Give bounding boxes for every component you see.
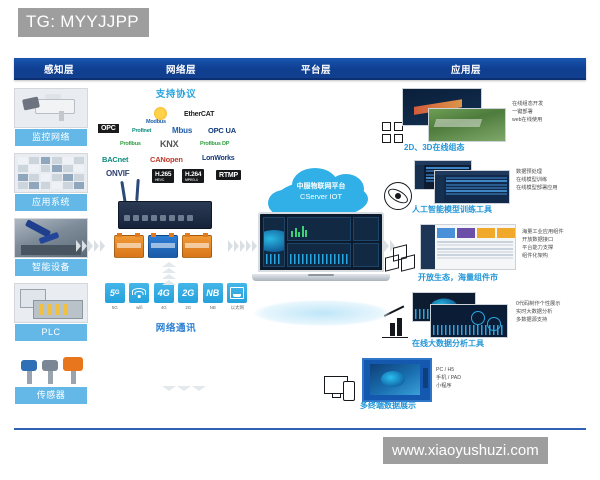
protocol-logo-profinet: Profinet xyxy=(132,128,151,134)
dash-panel-left-bottom xyxy=(287,243,351,267)
app-caption: 开放生态，海量组件市 xyxy=(418,272,498,283)
app-caption: 多终端数据展示 xyxy=(360,400,416,411)
layer-label-platform: 平台层 xyxy=(301,62,331,76)
antenna-icon xyxy=(135,179,140,201)
layer-label-perception: 感知层 xyxy=(44,62,74,76)
signal-4g-icon: 4G xyxy=(154,283,174,303)
app-screenshot-components xyxy=(420,224,516,270)
control-panel-icon xyxy=(14,153,88,193)
app-screenshot-ai-b xyxy=(434,170,510,204)
app-block-ecosystem: 海量工业应用组件 开放数据接口 平台能力支撑 组件化架构 开放生态，海量组件市 xyxy=(382,222,600,288)
device-application-system: 应用系统 xyxy=(8,153,94,211)
dash-panel-right-bottom xyxy=(353,243,379,267)
bar-chart-icon xyxy=(382,314,410,338)
diagram-canvas: TG: MYYJJPP 感知层 网络层 平台层 应用层 监控网络 xyxy=(0,0,600,480)
device-camera: 监控网络 xyxy=(8,88,94,146)
app-caption: 在线大数据分析工具 xyxy=(412,338,484,349)
comm-technology-row: 5G 5G wifi 4G 4G 2G 2G NB NB xyxy=(96,283,256,311)
device-label: 智能设备 xyxy=(15,259,87,276)
signal-nb-icon: NB xyxy=(203,283,223,303)
comm-nb: NB NB xyxy=(203,283,223,311)
protocol-logo-h264: H.264MPEG-4 xyxy=(182,169,204,183)
protocol-logo-lonworks: LonWorks xyxy=(202,155,235,162)
app-caption: 人工智能模型训练工具 xyxy=(412,204,492,215)
protocol-logo-canopen: CANopen xyxy=(150,155,183,164)
app-feature-list: 数据预处理 在线模型训练 在线模型部署应用 xyxy=(516,168,558,192)
layer-label-network: 网络层 xyxy=(166,62,196,76)
comm-4g: 4G 4G xyxy=(154,283,174,311)
dtu-module xyxy=(182,235,212,258)
platform-column: 中服物联网平台 CServer IOT xyxy=(246,168,396,281)
protocol-logo-knx: KNX xyxy=(160,139,178,149)
ethernet-icon xyxy=(227,283,247,303)
app-feature-list: 海量工业应用组件 开放数据接口 平台能力支撑 组件化架构 xyxy=(522,228,564,260)
comm-2g: 2G 2G xyxy=(178,283,198,311)
layer-label-application: 应用层 xyxy=(451,62,481,76)
protocol-logo-profibus-dp: Profibus DP xyxy=(200,141,229,147)
protocol-logo-mbus: Mbus xyxy=(172,126,192,135)
protocol-logo-h265: H.265HEVC xyxy=(152,169,174,183)
device-plc: PLC xyxy=(8,283,94,341)
laptop-dashboard xyxy=(258,212,384,281)
protocols-title: 支持协议 xyxy=(96,86,256,100)
laptop-base xyxy=(252,274,390,281)
dash-panel-right-top xyxy=(353,217,379,241)
signal-2g-icon: 2G xyxy=(178,283,198,303)
platform-glow xyxy=(254,300,390,326)
app-screenshot-bigdata-b xyxy=(430,304,508,338)
comm-ethernet: 以太网 xyxy=(227,283,247,311)
app-screenshot-aerial xyxy=(428,108,506,142)
gateway-device xyxy=(118,201,212,229)
laptop-screen xyxy=(258,212,384,272)
robot-arm-icon xyxy=(14,218,88,258)
protocol-logo-bacnet: BACnet xyxy=(102,155,128,164)
app-feature-list: 0代码制作个性展示 实时大数据分析 多数据源支持 xyxy=(516,300,560,324)
dash-panel-center xyxy=(263,217,285,267)
protocol-logo-profibus: Profibus xyxy=(120,141,141,147)
plc-icon xyxy=(14,283,88,323)
device-label: 传感器 xyxy=(15,387,87,404)
comm-wifi: wifi xyxy=(129,283,149,311)
dash-panel-left-top xyxy=(287,217,351,241)
device-sensor: 传感器 xyxy=(8,348,94,404)
network-column: 支持协议 Modbus EtherCAT OPC Profinet Mbus O… xyxy=(96,86,256,334)
network-footer-label: 网络通讯 xyxy=(96,320,256,334)
cubes-icon xyxy=(384,246,414,272)
ai-atom-icon xyxy=(384,182,412,210)
protocol-logo-opc: OPC xyxy=(98,124,119,133)
app-block-ai-training: 数据预处理 在线模型训练 在线模型部署应用 人工智能模型训练工具 xyxy=(382,160,600,218)
wifi-icon xyxy=(129,283,149,303)
protocol-logo-ethercat: EtherCAT xyxy=(184,111,214,118)
protocol-logo-opc-ua: OPC UA xyxy=(208,126,236,135)
platform-title-en: CServer IOT xyxy=(300,192,342,201)
app-block-bigdata: 0代码制作个性展示 实时大数据分析 多数据源支持 在线大数据分析工具 xyxy=(382,292,600,352)
layer-header-bar: 感知层 网络层 平台层 应用层 xyxy=(14,58,586,80)
app-block-multiterminal: PC / H5 手机 / PAD 小程序 多终端数据展示 xyxy=(382,356,600,416)
grid-four-icon xyxy=(382,122,403,143)
protocol-logo-modbus: Modbus xyxy=(146,119,166,125)
multi-device-icon xyxy=(324,376,356,400)
app-block-configuration: 在线组态开发 一键部署 web在线使用 2D、3D在线组态 xyxy=(382,86,600,156)
antenna-icon xyxy=(120,181,126,203)
footer-divider xyxy=(14,428,586,430)
iot-gateway-group xyxy=(96,185,256,281)
app-feature-list: PC / H5 手机 / PAD 小程序 xyxy=(436,366,461,390)
dtu-module xyxy=(114,235,144,258)
protocol-logo-rtmp: RTMP xyxy=(216,170,241,180)
dtu-module xyxy=(148,235,178,258)
app-feature-list: 在线组态开发 一键部署 web在线使用 xyxy=(512,100,543,124)
device-label: PLC xyxy=(15,324,87,341)
protocol-logo-cloud: Modbus EtherCAT OPC Profinet Mbus OPC UA… xyxy=(96,105,256,183)
platform-title-cn: 中服物联网平台 xyxy=(297,183,346,190)
signal-5g-icon: 5G xyxy=(105,283,125,303)
top-watermark: TG: MYYJJPP xyxy=(18,8,149,37)
protocol-logo-onvif: ONVIF xyxy=(106,169,129,178)
device-label: 监控网络 xyxy=(15,129,87,146)
app-screenshot-terminal xyxy=(362,358,432,402)
site-watermark: www.xiaoyushuzi.com xyxy=(383,437,548,464)
camera-icon xyxy=(14,88,88,128)
comm-5g: 5G 5G xyxy=(105,283,125,311)
flow-arrow-up-from-comm xyxy=(162,386,206,391)
device-label: 应用系统 xyxy=(15,194,87,211)
platform-title: 中服物联网平台 CServer IOT xyxy=(262,182,380,202)
app-caption: 2D、3D在线组态 xyxy=(404,142,464,153)
sensor-icon xyxy=(15,348,87,386)
application-column: 在线组态开发 一键部署 web在线使用 2D、3D在线组态 数据预处理 在线模型… xyxy=(382,86,600,420)
